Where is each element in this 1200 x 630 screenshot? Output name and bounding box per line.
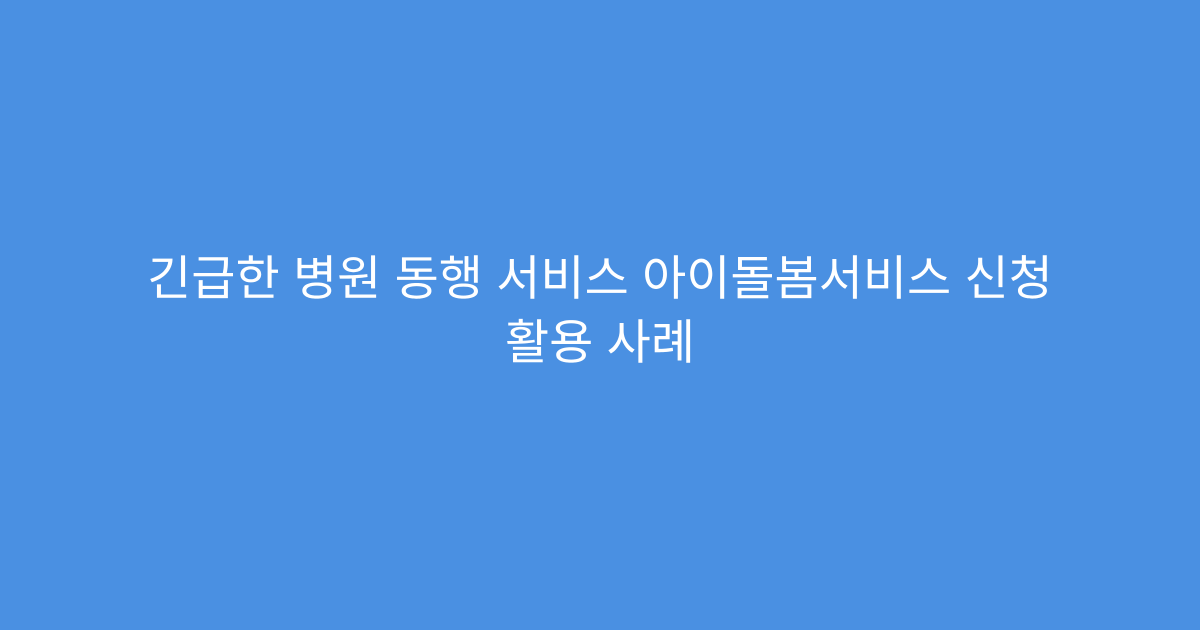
headline-block: 긴급한 병원 동행 서비스 아이돌봄서비스 신청 활용 사례: [80, 248, 1120, 376]
page-title: 긴급한 병원 동행 서비스 아이돌봄서비스 신청 활용 사례: [100, 248, 1100, 376]
banner-card: 긴급한 병원 동행 서비스 아이돌봄서비스 신청 활용 사례: [0, 0, 1200, 630]
